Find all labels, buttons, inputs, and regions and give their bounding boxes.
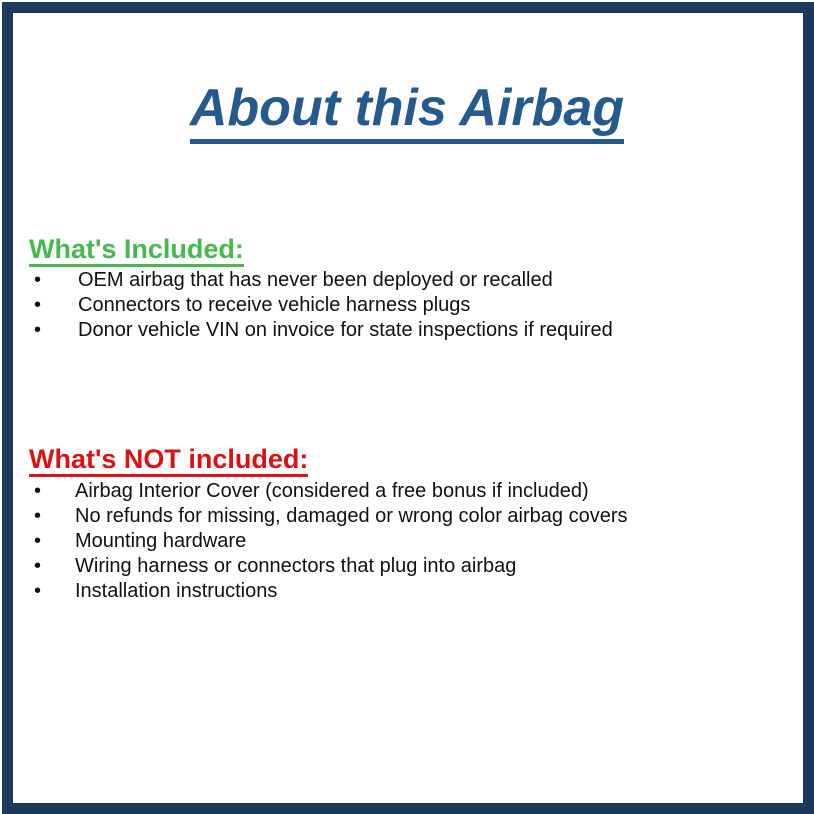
list-item: • OEM airbag that has never been deploye… — [30, 268, 790, 293]
list-item: • Wiring harness or connectors that plug… — [30, 554, 790, 579]
list-item-label: Mounting hardware — [75, 530, 246, 552]
page-title: About this Airbag — [0, 78, 814, 144]
list-item-label: Connectors to receive vehicle harness pl… — [78, 294, 470, 316]
section-heading-not-included-text: What's NOT included: — [29, 444, 308, 477]
section-heading-included: What's Included: — [29, 234, 244, 267]
list-item: • Installation instructions — [30, 579, 790, 604]
list-item-label: OEM airbag that has never been deployed … — [78, 269, 553, 291]
list-item: • Mounting hardware — [30, 529, 790, 554]
list-item-label: Installation instructions — [75, 580, 277, 602]
section-heading-included-text: What's Included: — [29, 234, 244, 267]
bullet-icon: • — [34, 293, 41, 318]
bullet-icon: • — [34, 504, 41, 529]
bullet-icon: • — [34, 318, 41, 343]
list-item-label: Donor vehicle VIN on invoice for state i… — [78, 319, 613, 341]
list-item: • Donor vehicle VIN on invoice for state… — [30, 318, 790, 343]
section-heading-not-included: What's NOT included: — [29, 444, 308, 477]
bullet-icon: • — [34, 268, 41, 293]
list-item-label: Airbag Interior Cover (considered a free… — [75, 480, 589, 502]
bullet-icon: • — [34, 479, 41, 504]
about-this-airbag-page: About this Airbag What's Included: • OEM… — [0, 0, 814, 814]
list-item-label: No refunds for missing, damaged or wrong… — [75, 505, 627, 527]
list-item: • No refunds for missing, damaged or wro… — [30, 504, 790, 529]
not-included-list: • Airbag Interior Cover (considered a fr… — [30, 479, 790, 604]
bullet-icon: • — [34, 529, 41, 554]
bullet-icon: • — [34, 554, 41, 579]
page-content: About this Airbag What's Included: • OEM… — [0, 0, 814, 814]
page-title-text: About this Airbag — [190, 78, 624, 144]
list-item: • Connectors to receive vehicle harness … — [30, 293, 790, 318]
list-item: • Airbag Interior Cover (considered a fr… — [30, 479, 790, 504]
list-item-label: Wiring harness or connectors that plug i… — [75, 555, 516, 577]
included-list: • OEM airbag that has never been deploye… — [30, 268, 790, 343]
bullet-icon: • — [34, 579, 41, 604]
